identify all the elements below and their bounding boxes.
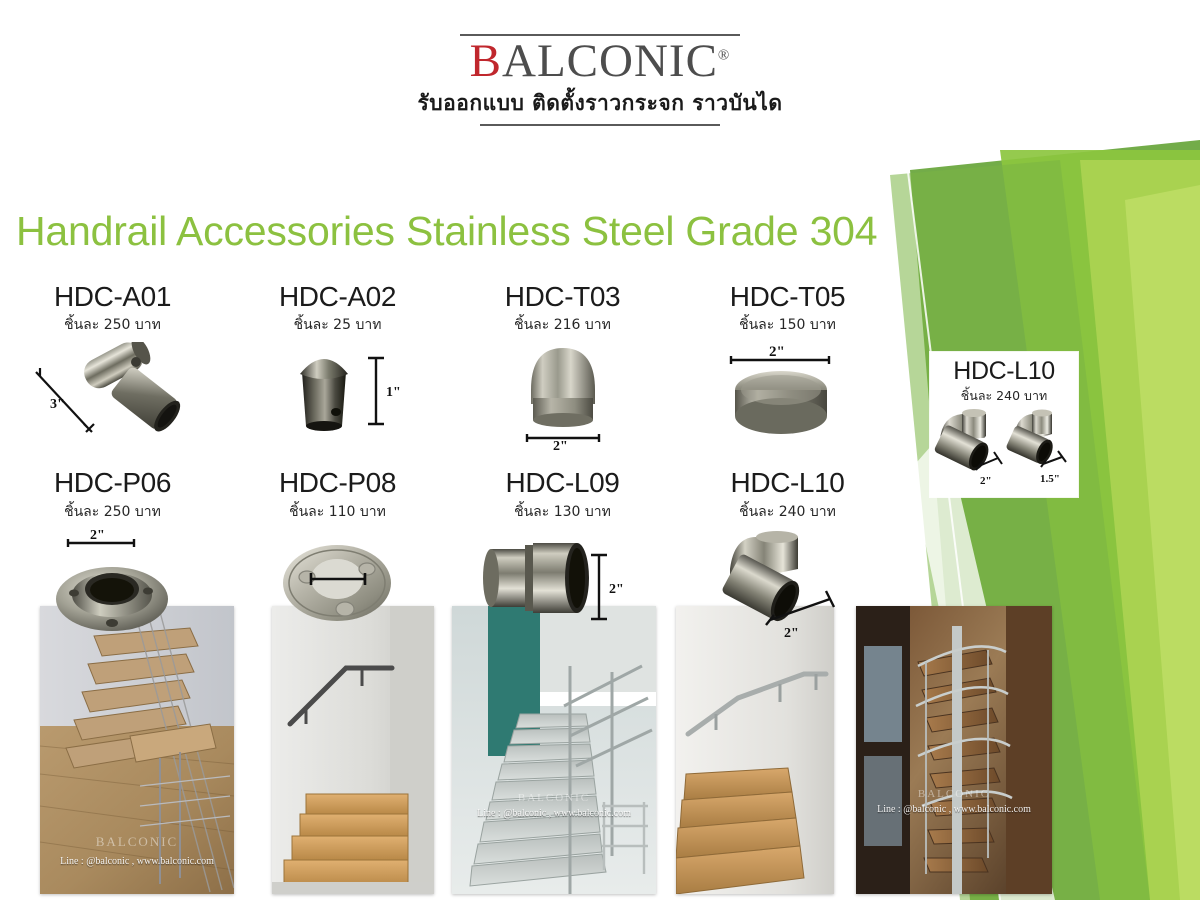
product-card-hdc-a01[interactable]: HDC-A01 ชิ้นละ 250 บาท: [0, 282, 225, 450]
elbow-pair-icon: 2" 1.5": [930, 408, 1078, 488]
logo-rule-bottom: [480, 124, 720, 126]
photo-scene: [452, 606, 656, 894]
product-image-flat-flange: [225, 525, 450, 637]
product-price: ชิ้นละ 130 บาท: [450, 501, 675, 523]
inset-card-hdc-l10[interactable]: HDC-L10 ชิ้นละ 240 บาท: [930, 352, 1078, 497]
dimension-label-l09: 2": [609, 582, 624, 597]
product-price: ชิ้นละ 240 บาท: [675, 501, 900, 523]
product-row: HDC-A01 ชิ้นละ 250 บาท: [0, 282, 900, 450]
product-image-straight-connector: 2": [450, 525, 675, 637]
flat-cap-icon: 2": [713, 342, 863, 450]
photo-scene: [40, 606, 234, 894]
product-card-hdc-l10[interactable]: HDC-L10 ชิ้นละ 240 บาท: [675, 468, 900, 636]
product-price: ชิ้นละ 25 บาท: [225, 314, 450, 336]
product-card-hdc-p06[interactable]: HDC-P06 ชิ้นละ 250 บาท: [0, 468, 225, 636]
photo-watermark-line: Line : @balconic , www.balconic.com: [452, 808, 656, 819]
product-grid: HDC-A01 ชิ้นละ 250 บาท: [0, 282, 900, 637]
base-flange-icon: 2": [38, 529, 188, 637]
registered-mark-icon: ®: [718, 47, 730, 63]
product-card-hdc-t03[interactable]: HDC-T03 ชิ้นละ 216 บาท: [450, 282, 675, 450]
gallery-photo-4[interactable]: [676, 606, 834, 894]
gallery-photo-2[interactable]: [272, 606, 434, 894]
product-price: ชิ้นละ 216 บาท: [450, 314, 675, 336]
brand-tagline: รับออกแบบ ติดตั้งราวกระจก ราวบันได: [0, 87, 1200, 120]
product-row: HDC-P06 ชิ้นละ 250 บาท: [0, 468, 900, 636]
photo-scene: [856, 606, 1052, 894]
product-code: HDC-T03: [450, 282, 675, 311]
product-card-hdc-l09[interactable]: HDC-L09 ชิ้นละ 130 บาท: [450, 468, 675, 636]
product-code: HDC-P06: [0, 468, 225, 497]
product-price: ชิ้นละ 110 บาท: [225, 501, 450, 523]
photo-watermark-brand: BALCONIC: [40, 834, 234, 850]
flat-flange-icon: [263, 529, 413, 637]
product-image-base-flange: 2": [0, 525, 225, 637]
product-card-hdc-a02[interactable]: HDC-A02 ชิ้นละ 25 บาท: [225, 282, 450, 450]
product-image-angled-end-cap: 3": [0, 338, 225, 450]
product-code: HDC-L10: [675, 468, 900, 497]
product-price: ชิ้นละ 250 บาท: [0, 314, 225, 336]
inset-product-code: HDC-L10: [930, 358, 1078, 384]
photo-scene: [676, 606, 834, 894]
slide-canvas: BALCONIC® รับออกแบบ ติดตั้งราวกระจก ราวบ…: [0, 0, 1200, 900]
photo-watermark-line: Line : @balconic , www.balconic.com: [40, 856, 234, 867]
elbow-icon: 2": [708, 529, 868, 641]
brand-logo: BALCONIC® รับออกแบบ ติดตั้งราวกระจก ราวบ…: [0, 34, 1200, 126]
product-card-hdc-t05[interactable]: HDC-T05 ชิ้นละ 150 บาท: [675, 282, 900, 450]
product-code: HDC-A01: [0, 282, 225, 311]
gallery-photo-1[interactable]: BALCONIC Line : @balconic , www.balconic…: [40, 606, 234, 894]
page-title: Handrail Accessories Stainless Steel Gra…: [16, 208, 877, 255]
inset-product-price: ชิ้นละ 240 บาท: [930, 386, 1078, 406]
photo-scene: [272, 606, 434, 894]
dimension-label-t03: 2": [553, 439, 568, 450]
photo-gallery: BALCONIC Line : @balconic , www.balconic…: [0, 606, 1200, 898]
dimension-label-t05: 2": [769, 344, 785, 360]
product-image-dome-cap: 2": [450, 338, 675, 450]
photo-watermark-brand: BALCONIC: [856, 788, 1052, 800]
dimension-label-a02: 1": [386, 385, 401, 400]
brand-initial: B: [470, 35, 502, 87]
brand-wordmark: BALCONIC®: [470, 38, 731, 86]
angled-end-cap-icon: 3": [28, 342, 198, 450]
product-image-cone-cap: 1": [225, 338, 450, 450]
product-code: HDC-P08: [225, 468, 450, 497]
gallery-photo-5[interactable]: BALCONIC Line : @balconic , www.balconic…: [856, 606, 1052, 894]
inset-dimension-right: 1.5": [1040, 473, 1060, 485]
product-price: ชิ้นละ 150 บาท: [675, 314, 900, 336]
photo-watermark-brand: BALCONIC: [452, 792, 656, 804]
dimension-label-p06: 2": [90, 529, 105, 543]
product-price: ชิ้นละ 250 บาท: [0, 501, 225, 523]
product-image-flat-cap: 2": [675, 338, 900, 450]
product-code: HDC-A02: [225, 282, 450, 311]
cone-cap-icon: 1": [268, 342, 408, 446]
inset-product-images: 2" 1.5": [930, 408, 1078, 488]
dimension-label-l10: 2": [784, 626, 799, 641]
inset-dimension-left: 2": [980, 475, 992, 487]
gallery-photo-3[interactable]: BALCONIC Line : @balconic , www.balconic…: [452, 606, 656, 894]
brand-name-rest: ALCONIC: [502, 35, 718, 87]
dome-cap-icon: 2": [493, 342, 633, 450]
photo-watermark-line: Line : @balconic , www.balconic.com: [856, 804, 1052, 815]
product-card-hdc-p08[interactable]: HDC-P08 ชิ้นละ 110 บาท: [225, 468, 450, 636]
straight-connector-icon: 2": [483, 529, 643, 637]
product-image-elbow: 2": [675, 525, 900, 637]
product-code: HDC-T05: [675, 282, 900, 311]
dimension-label-a01: 3": [50, 397, 65, 412]
product-code: HDC-L09: [450, 468, 675, 497]
